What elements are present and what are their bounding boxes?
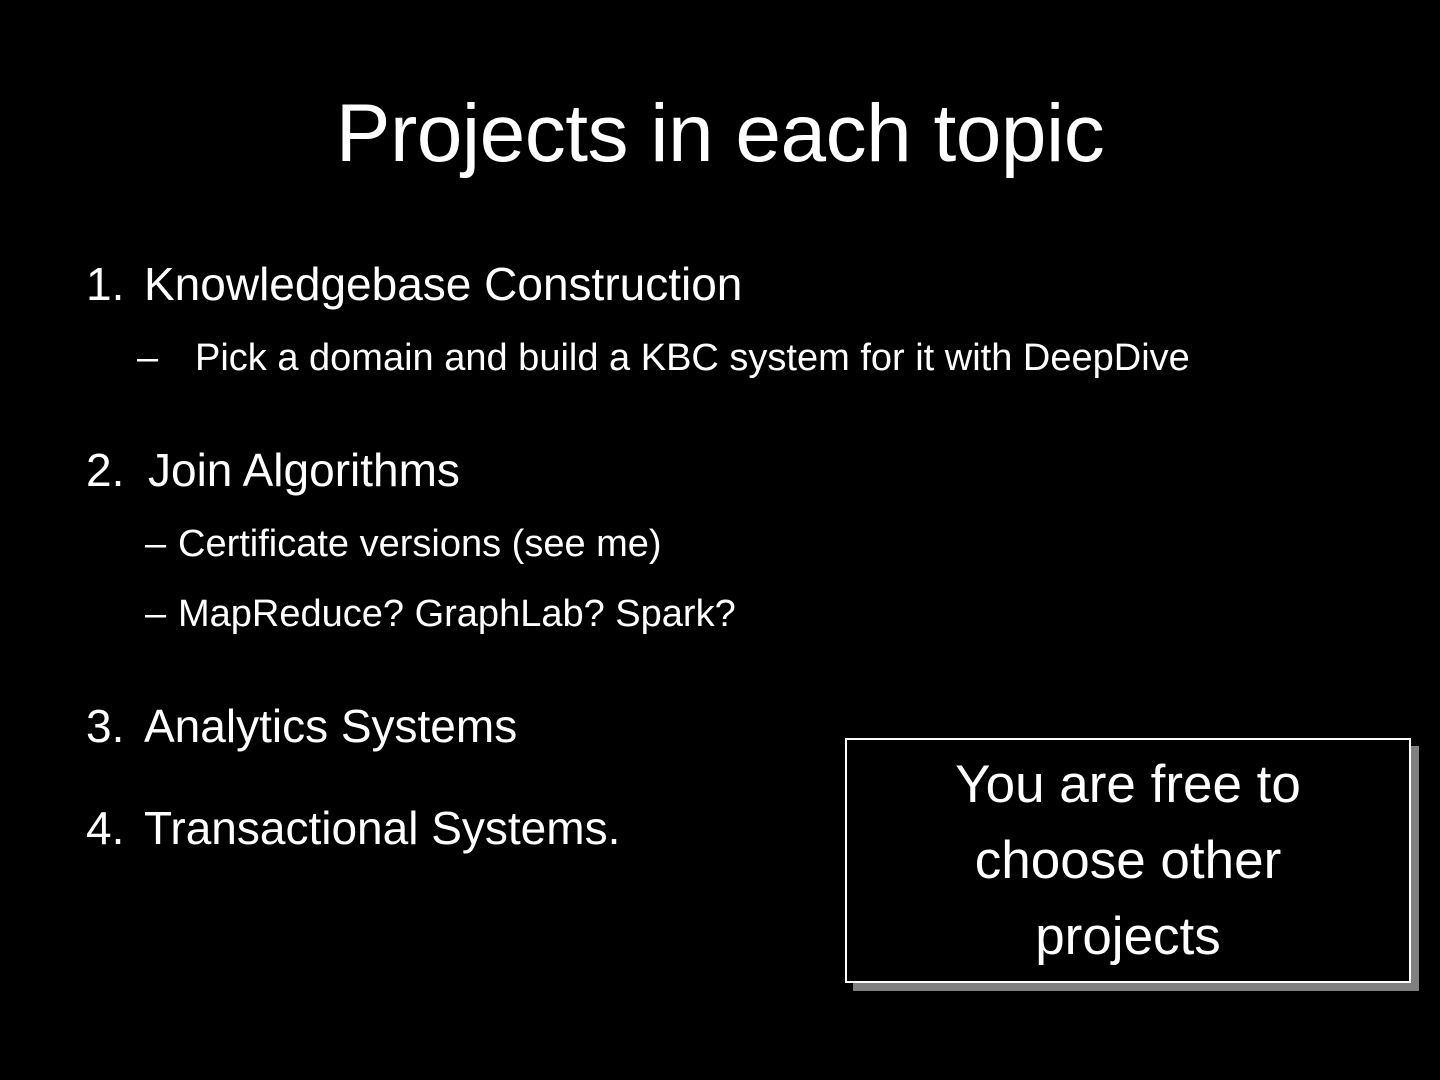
slide-canvas: Projects in each topic 1.Knowledgebase C…: [0, 0, 1440, 1080]
sublist-item-2-2-label: MapReduce? GraphLab? Spark?: [178, 593, 736, 635]
en-dash-icon: –: [137, 334, 195, 382]
spacer: [86, 382, 1386, 442]
list-item-3-number: 3.: [86, 698, 144, 754]
list-item-1: 1.Knowledgebase Construction: [86, 256, 1386, 312]
spacer: [86, 638, 1386, 698]
callout-text: You are free to choose other projects: [847, 747, 1409, 975]
list-item-3-label: Analytics Systems: [144, 700, 517, 752]
spacer: [86, 568, 1386, 590]
spacer: [86, 498, 1386, 520]
list-item-4-label: Transactional Systems.: [144, 802, 620, 854]
page-title: Projects in each topic: [0, 88, 1440, 180]
list-item-4-number: 4.: [86, 800, 144, 856]
list-item-1-number: 1.: [86, 256, 144, 312]
list-item-1-label: Knowledgebase Construction: [144, 258, 742, 310]
spacer: [86, 312, 1386, 334]
sublist-item-2-1-label: Certificate versions (see me): [178, 523, 662, 565]
list-item-2-number: 2.: [86, 442, 148, 498]
list-item-2-label: Join Algorithms: [148, 444, 460, 496]
list-item-2: 2.Join Algorithms: [86, 442, 1386, 498]
sublist-item-2-2: –MapReduce? GraphLab? Spark?: [86, 590, 1386, 638]
callout-line-2: choose other: [857, 823, 1399, 899]
sublist-item-1-1: –Pick a domain and build a KBC system fo…: [86, 334, 1386, 382]
sublist-item-1-1-label: Pick a domain and build a KBC system for…: [195, 337, 1190, 379]
callout-line-3: projects: [857, 899, 1399, 975]
callout-line-1: You are free to: [857, 747, 1399, 823]
en-dash-icon: –: [145, 590, 178, 638]
sublist-item-2-1: –Certificate versions (see me): [86, 520, 1386, 568]
en-dash-icon: –: [145, 520, 178, 568]
callout-box: You are free to choose other projects: [845, 738, 1411, 983]
